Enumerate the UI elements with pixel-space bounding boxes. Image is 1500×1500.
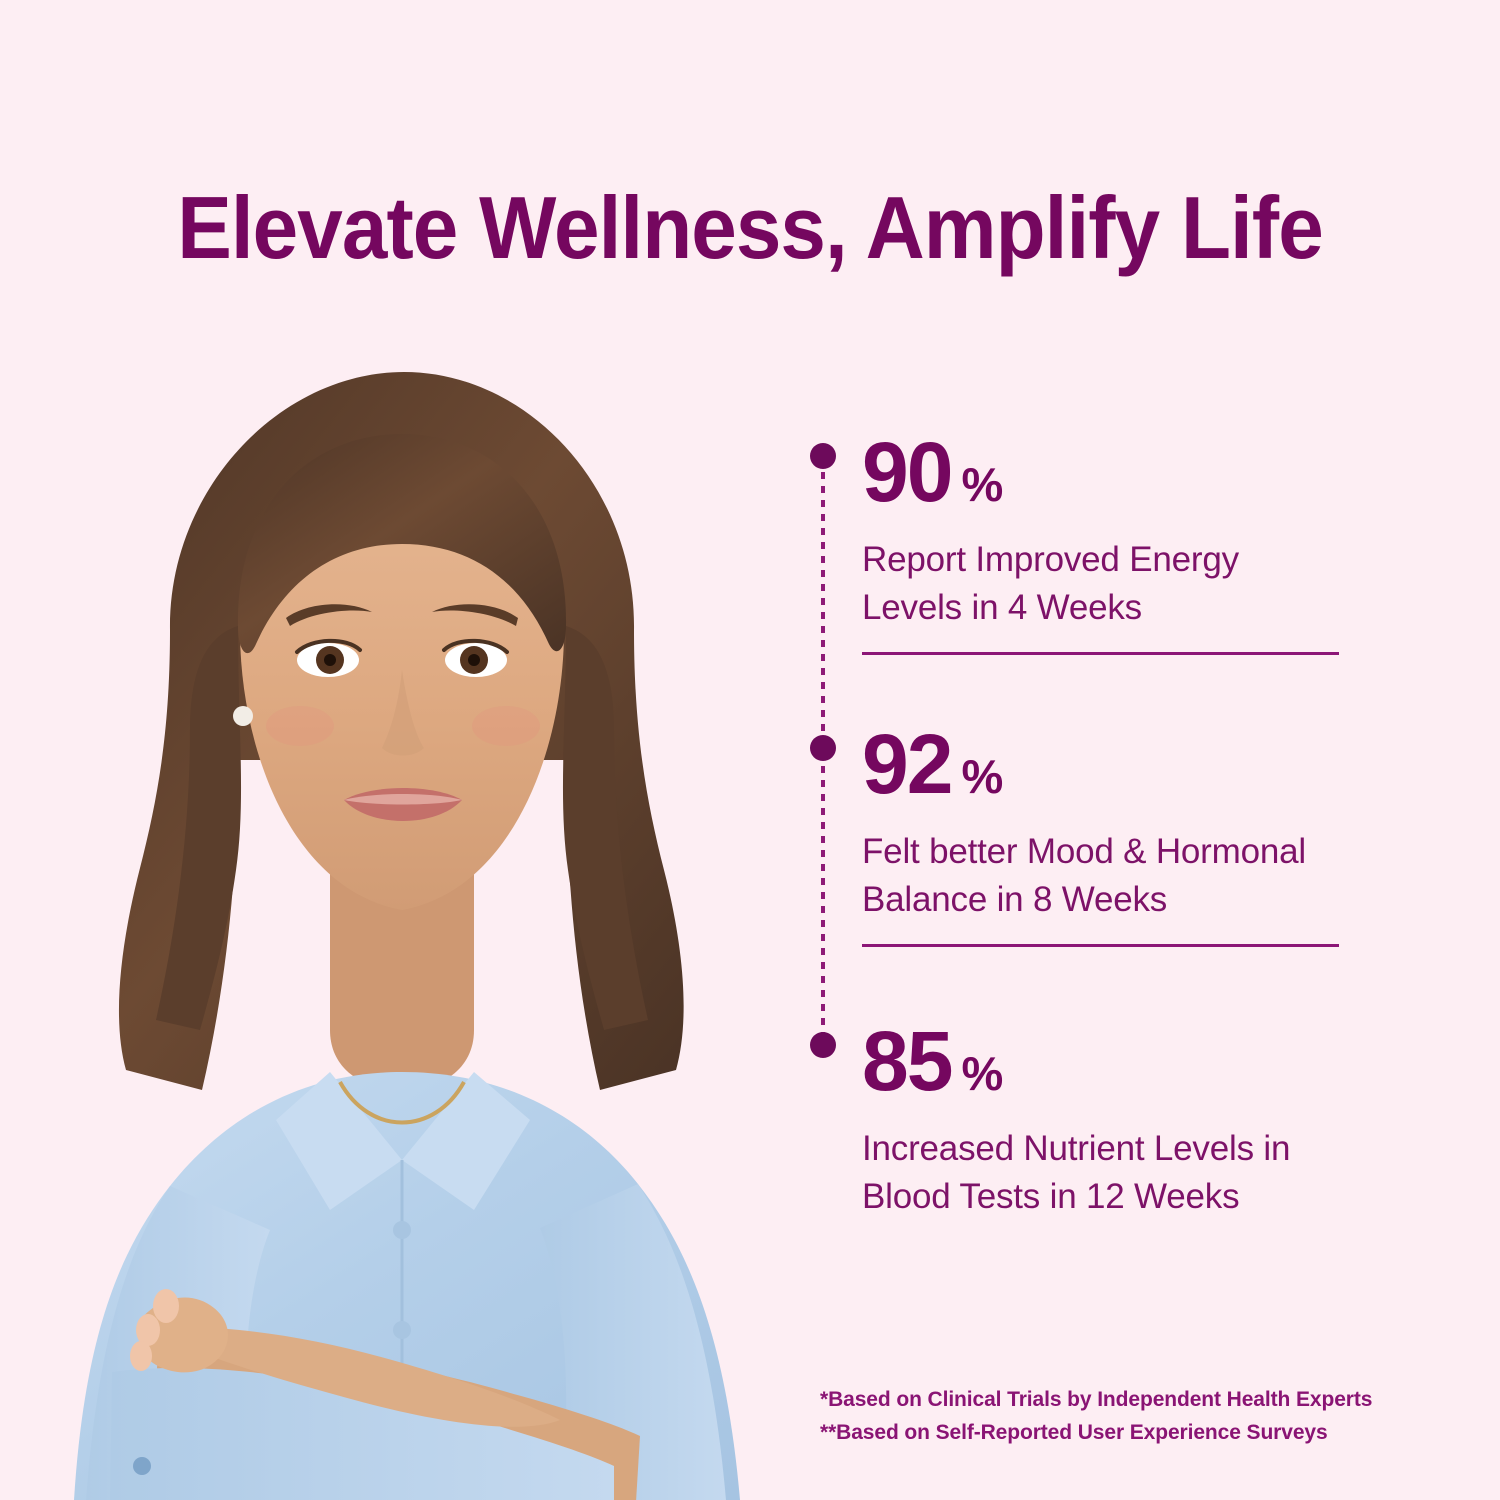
stat-value-row: 90 % <box>862 430 1430 514</box>
stat-item: 92 % Felt better Mood & Hormonal Balance… <box>862 722 1430 947</box>
timeline-node-3 <box>810 1032 836 1058</box>
stat-divider <box>862 652 1339 655</box>
stat-unit: % <box>961 461 1002 508</box>
timeline-connector <box>810 430 850 1070</box>
stat-item: 90 % Report Improved Energy Levels in 4 … <box>862 430 1430 655</box>
timeline-node-2 <box>810 735 836 761</box>
stat-value: 92 <box>862 722 951 806</box>
stat-value: 85 <box>862 1019 951 1103</box>
page-title: Elevate Wellness, Amplify Life <box>53 178 1448 278</box>
stat-description: Increased Nutrient Levels in Blood Tests… <box>862 1125 1430 1221</box>
dotted-line <box>821 444 825 1048</box>
stat-divider <box>862 944 1339 947</box>
footnote-primary: *Based on Clinical Trials by Independent… <box>820 1383 1372 1416</box>
stat-description: Felt better Mood & Hormonal Balance in 8… <box>862 828 1430 924</box>
footnotes: *Based on Clinical Trials by Independent… <box>820 1383 1372 1449</box>
model-photo <box>0 330 800 1500</box>
stat-value: 90 <box>862 430 951 514</box>
stat-unit: % <box>961 1050 1002 1097</box>
stat-unit: % <box>961 753 1002 800</box>
footnote-secondary: **Based on Self-Reported User Experience… <box>820 1416 1372 1449</box>
stat-value-row: 85 % <box>862 1019 1430 1103</box>
stat-item: 85 % Increased Nutrient Levels in Blood … <box>862 1019 1430 1221</box>
timeline-node-1 <box>810 443 836 469</box>
stat-description: Report Improved Energy Levels in 4 Weeks <box>862 536 1430 632</box>
stat-value-row: 92 % <box>862 722 1430 806</box>
promo-poster: Elevate Wellness, Amplify Life <box>0 0 1500 1500</box>
